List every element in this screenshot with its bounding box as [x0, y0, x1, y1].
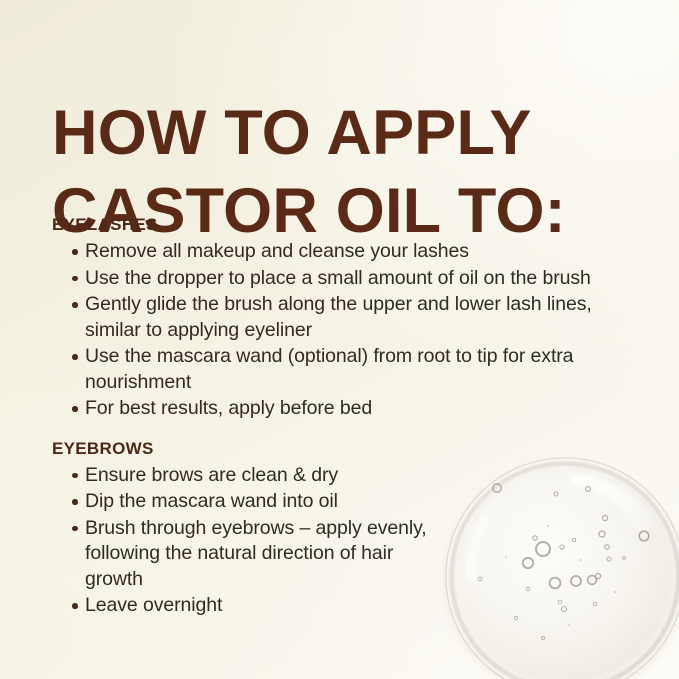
list-item: Use the mascara wand (optional) from roo…	[52, 344, 622, 395]
section-heading-eyelashes: EYELASHES	[52, 214, 622, 236]
list-item: Remove all makeup and cleanse your lashe…	[52, 239, 622, 265]
list-item: Leave overnight	[52, 593, 445, 619]
list-item: Ensure brows are clean & dry	[52, 463, 445, 489]
list-item: Brush through eyebrows – apply evenly, f…	[52, 516, 445, 593]
bullet-list-eyelashes: Remove all makeup and cleanse your lashe…	[52, 239, 622, 422]
poster-canvas: HOW TO APPLY CASTOR OIL TO: EYELASHES Re…	[0, 0, 679, 679]
list-item: Dip the mascara wand into oil	[52, 489, 445, 515]
list-item: For best results, apply before bed	[52, 396, 622, 422]
list-item: Gently glide the brush along the upper a…	[52, 292, 622, 343]
section-heading-eyebrows: EYEBROWS	[52, 438, 622, 460]
section-eyelashes: EYELASHES Remove all makeup and cleanse …	[52, 214, 622, 422]
section-eyebrows: EYEBROWS Ensure brows are clean & dry Di…	[52, 438, 622, 619]
list-item: Use the dropper to place a small amount …	[52, 266, 622, 292]
bullet-list-eyebrows: Ensure brows are clean & dry Dip the mas…	[52, 463, 622, 619]
instructions-content: EYELASHES Remove all makeup and cleanse …	[52, 214, 622, 620]
page-title-line-1: HOW TO APPLY	[52, 94, 642, 172]
